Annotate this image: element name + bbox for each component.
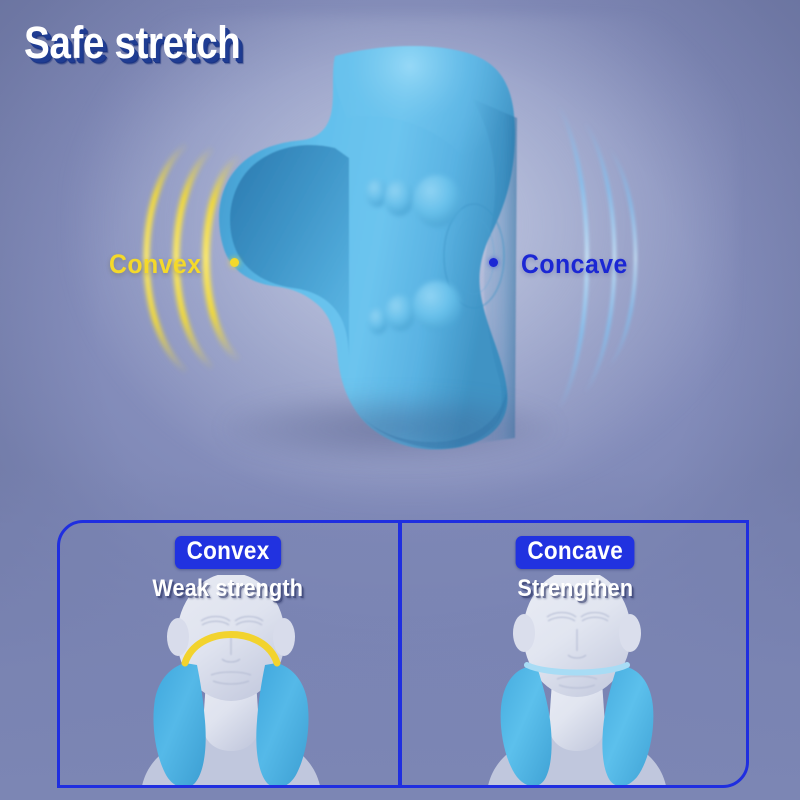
panel-concave[interactable] (405, 523, 749, 785)
concave-dot-marker (489, 258, 498, 267)
concave-illustration (405, 575, 749, 788)
panel-convex[interactable] (60, 523, 401, 785)
panel-divider (398, 520, 402, 788)
comparison-frame (57, 520, 749, 788)
concave-label: Concave (521, 249, 628, 280)
product-drop-shadow (225, 393, 555, 463)
convex-illustration (60, 575, 401, 788)
product-image (185, 38, 585, 458)
convex-dot-marker (230, 258, 239, 267)
product-infographic: Convex Concave Safe stretch (0, 0, 800, 800)
convex-label: Convex (109, 249, 202, 280)
hero-section: Convex Concave Safe stretch (0, 0, 800, 500)
page-title: Safe stretch (24, 17, 240, 69)
